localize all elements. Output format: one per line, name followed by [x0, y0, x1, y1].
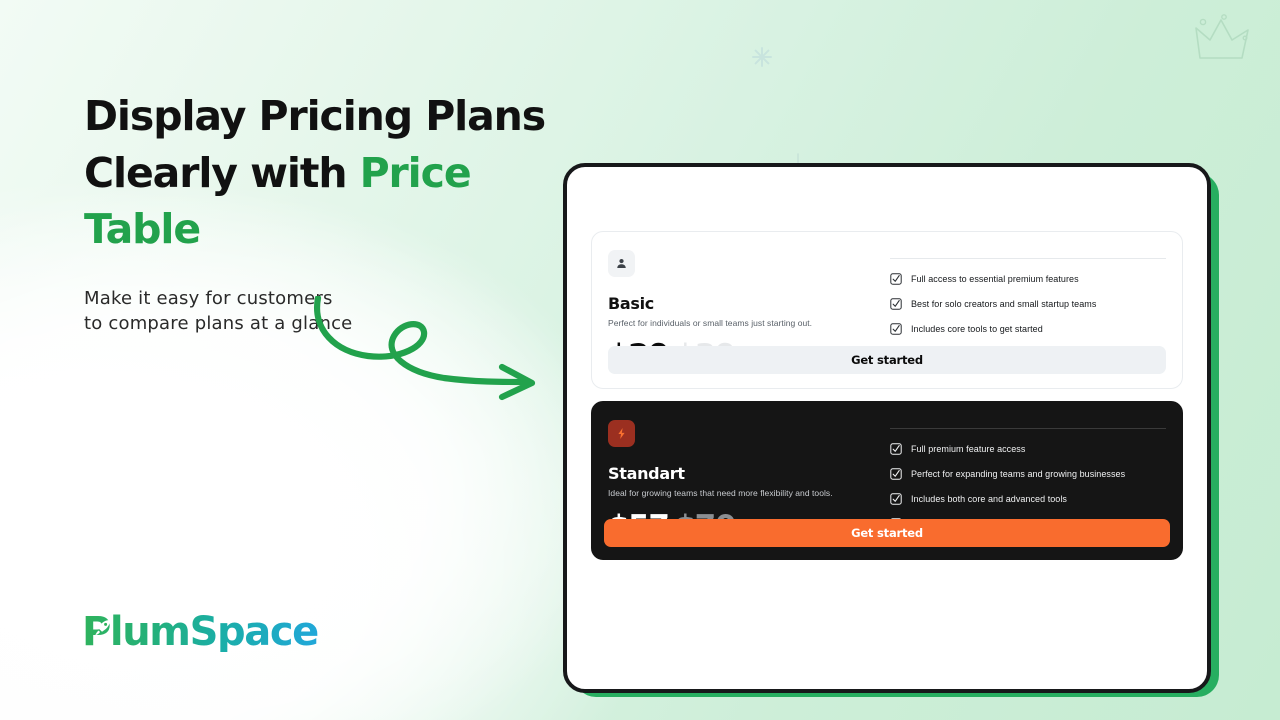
list-item: Full access to essential premium feature…: [890, 273, 1166, 285]
pricing-card-standart-name: Standart: [608, 464, 876, 483]
brand-logo: PlumSpace: [82, 606, 318, 658]
page-title: Display Pricing Plans Clearly with Price…: [84, 88, 554, 258]
pricing-table-body: Basic Perfect for individuals or small t…: [567, 167, 1207, 689]
crown-outline-icon: [1190, 12, 1256, 68]
feature-label: Includes core tools to get started: [911, 324, 1043, 334]
headline-line-2-plain: Clearly with: [84, 149, 360, 197]
pricing-card-standart-description: Ideal for growing teams that need more f…: [608, 488, 876, 499]
checkbox-check-icon: [890, 443, 902, 455]
list-item: Full premium feature access: [890, 443, 1166, 455]
lightning-bolt-icon: [608, 420, 635, 447]
checkbox-check-icon: [890, 468, 902, 480]
sparkle-icon: [750, 45, 774, 69]
pricing-table-frame: Basic Perfect for individuals or small t…: [563, 163, 1211, 693]
headline-line-1: Display Pricing Plans: [84, 92, 545, 140]
feature-label: Full premium feature access: [911, 444, 1025, 454]
get-started-button-basic[interactable]: Get started: [608, 346, 1166, 374]
feature-label: Perfect for expanding teams and growing …: [911, 469, 1125, 479]
divider: [890, 428, 1166, 429]
feature-label: Full access to essential premium feature…: [911, 274, 1079, 284]
brand-logo-text-space: Space: [190, 609, 318, 655]
divider: [890, 258, 1166, 259]
list-item: Includes core tools to get started: [890, 323, 1166, 335]
list-item: Best for solo creators and small startup…: [890, 298, 1166, 310]
checkbox-check-icon: [890, 273, 902, 285]
checkbox-check-icon: [890, 323, 902, 335]
user-icon: [608, 250, 635, 277]
checkbox-check-icon: [890, 493, 902, 505]
brand-logo-text-plum: Plum: [82, 609, 190, 655]
feature-label: Best for solo creators and small startup…: [911, 299, 1096, 309]
pricing-card-standart-feature-list: Full premium feature access Perfect for …: [890, 443, 1166, 530]
feature-label: Includes both core and advanced tools: [911, 494, 1067, 504]
list-item: Perfect for expanding teams and growing …: [890, 468, 1166, 480]
list-item: Includes both core and advanced tools: [890, 493, 1166, 505]
get-started-button-standart[interactable]: Get started: [604, 519, 1170, 547]
checkbox-check-icon: [890, 298, 902, 310]
pricing-card-basic-description: Perfect for individuals or small teams j…: [608, 318, 876, 329]
pricing-card-standart[interactable]: Standart Ideal for growing teams that ne…: [591, 401, 1183, 559]
pricing-card-basic[interactable]: Basic Perfect for individuals or small t…: [591, 231, 1183, 389]
curved-arrow-icon: [296, 296, 552, 404]
brand-logo-text: PlumSpace: [82, 612, 318, 652]
pricing-card-basic-name: Basic: [608, 294, 876, 313]
